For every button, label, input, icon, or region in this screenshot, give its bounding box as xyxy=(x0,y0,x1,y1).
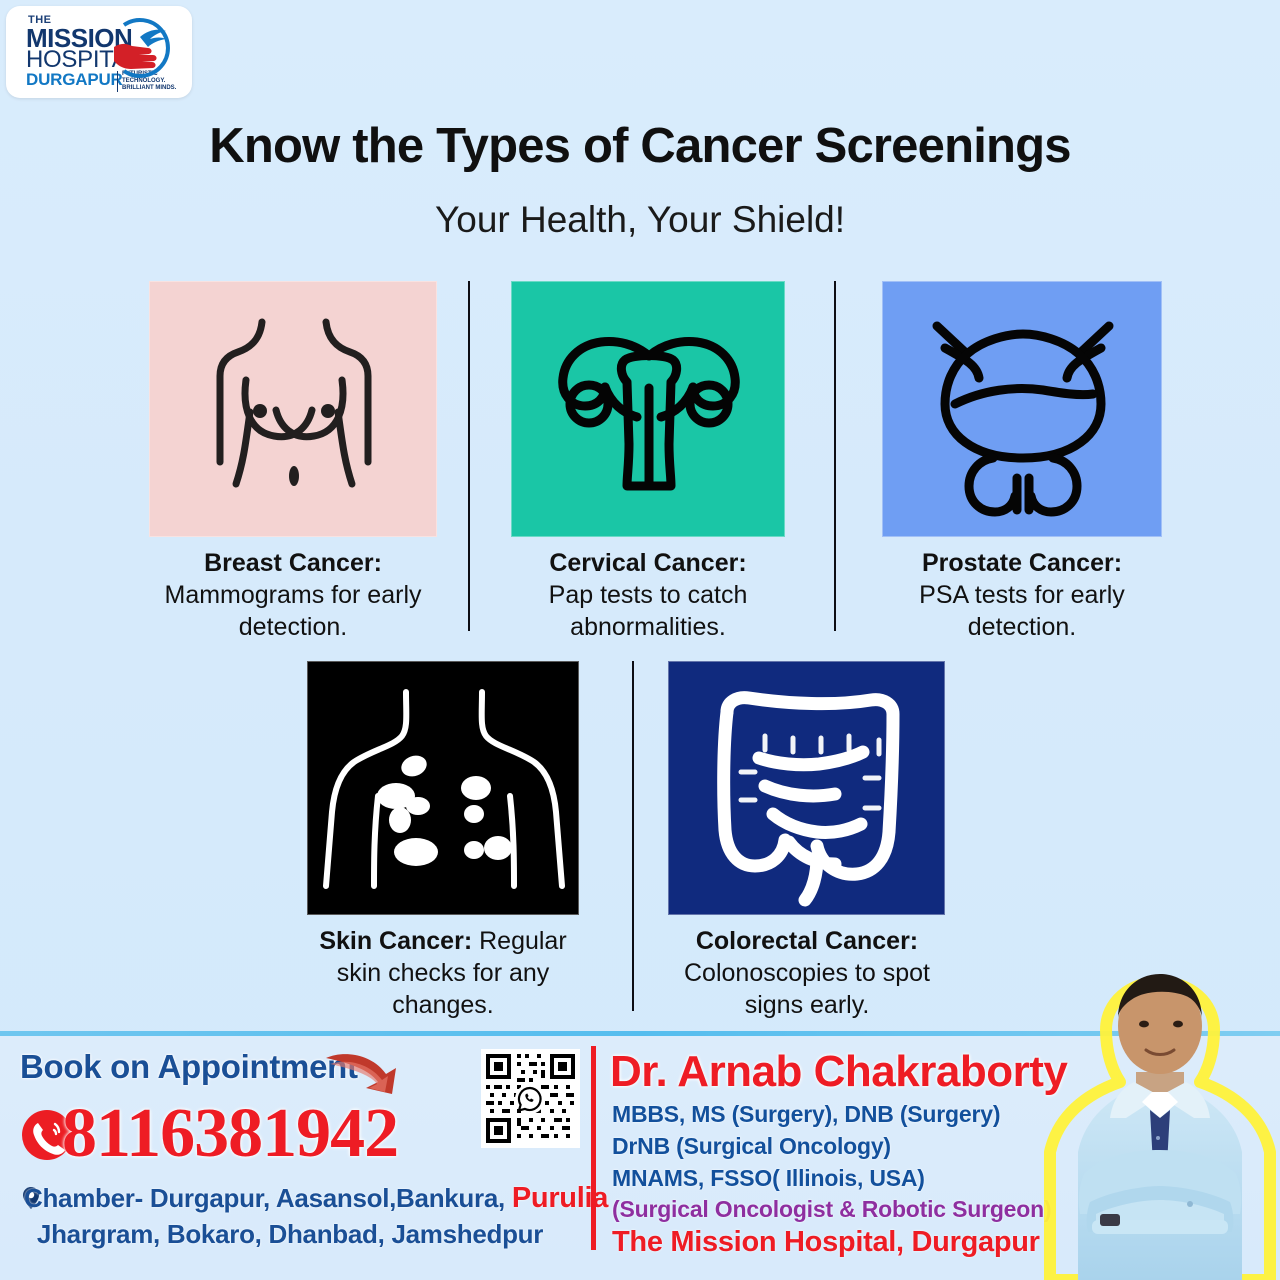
card-breast-caption: Breast Cancer: Mammograms for early dete… xyxy=(145,547,441,643)
large-intestine-icon xyxy=(668,661,945,915)
breast-torso-icon xyxy=(149,281,437,537)
card-skin-caption: Skin Cancer: Regular skin checks for any… xyxy=(297,925,589,1021)
card-prostate-desc: PSA tests for early detection. xyxy=(919,581,1125,641)
card-colorectal-title: Colorectal Cancer: xyxy=(696,927,918,955)
doctor-portrait-photo xyxy=(1040,952,1280,1280)
logo-inner: THE MISSION HOSPITAL DURGAPUR FUTURISTIC… xyxy=(20,15,180,89)
doctor-specialty: (Surgical Oncologist & Robotic Surgeon) xyxy=(612,1195,1051,1223)
card-cervical-title: Cervical Cancer: xyxy=(549,549,746,577)
card-colorectal: Colorectal Cancer: Colonoscopies to spot… xyxy=(668,661,945,1021)
divider-3 xyxy=(632,661,634,1011)
logo-durgapur-text: DURGAPUR xyxy=(26,71,123,88)
doctor-name: Dr. Arnab Chakraborty xyxy=(610,1048,1067,1096)
address-line-1: Chamber- Durgapur, Aasansol,Bankura, Pur… xyxy=(24,1182,608,1214)
card-prostate: Prostate Cancer: PSA tests for early det… xyxy=(882,281,1162,641)
card-breast-desc: Mammograms for early detection. xyxy=(165,581,422,641)
card-skin: Skin Cancer: Regular skin checks for any… xyxy=(307,661,579,1021)
book-appointment-label: Book on Appointment xyxy=(20,1048,358,1086)
doctor-qualification-1: MBBS, MS (Surgery), DNB (Surgery) xyxy=(612,1100,1000,1128)
card-colorectal-caption: Colorectal Cancer: Colonoscopies to spot… xyxy=(658,925,956,1021)
hand-with-bird-logo-icon xyxy=(110,17,178,79)
card-colorectal-desc: Colonoscopies to spot signs early. xyxy=(684,959,930,1019)
card-skin-title: Skin Cancer: xyxy=(319,927,472,955)
card-breast-title: Breast Cancer: xyxy=(204,549,382,577)
doctor-qualification-3: MNAMS, FSSO( Illinois, USA) xyxy=(612,1164,925,1192)
hospital-logo-badge: THE MISSION HOSPITAL DURGAPUR FUTURISTIC… xyxy=(6,6,192,98)
doctor-hospital: The Mission Hospital, Durgapur xyxy=(612,1225,1040,1259)
card-cervical: Cervical Cancer: Pap tests to catch abno… xyxy=(511,281,785,641)
divider-1 xyxy=(468,281,470,631)
footer-red-divider xyxy=(591,1046,596,1250)
doctor-qualification-2: DrNB (Surgical Oncology) xyxy=(612,1132,891,1160)
page-subtitle: Your Health, Your Shield! xyxy=(0,198,1280,242)
address-line-1-prefix: Chamber- Durgapur, Aasansol,Bankura, xyxy=(24,1183,505,1213)
skin-moles-torso-icon xyxy=(307,661,579,915)
page-title: Know the Types of Cancer Screenings xyxy=(0,118,1280,174)
card-cervical-caption: Cervical Cancer: Pap tests to catch abno… xyxy=(503,547,793,643)
curved-arrow-icon xyxy=(322,1048,406,1100)
poster-canvas: THE MISSION HOSPITAL DURGAPUR FUTURISTIC… xyxy=(0,0,1280,1280)
whatsapp-qr-code[interactable] xyxy=(481,1049,580,1148)
card-prostate-caption: Prostate Cancer: PSA tests for early det… xyxy=(874,547,1170,643)
uterus-icon xyxy=(511,281,785,537)
card-cervical-desc: Pap tests to catch abnormalities. xyxy=(549,581,748,641)
divider-2 xyxy=(834,281,836,631)
prostate-bladder-icon xyxy=(882,281,1162,537)
card-prostate-title: Prostate Cancer: xyxy=(922,549,1122,577)
address-line-2: Jhargram, Bokaro, Dhanbad, Jamshedpur xyxy=(0,1218,580,1250)
phone-number[interactable]: 8116381942 xyxy=(62,1098,398,1170)
card-breast: Breast Cancer: Mammograms for early dete… xyxy=(149,281,437,641)
